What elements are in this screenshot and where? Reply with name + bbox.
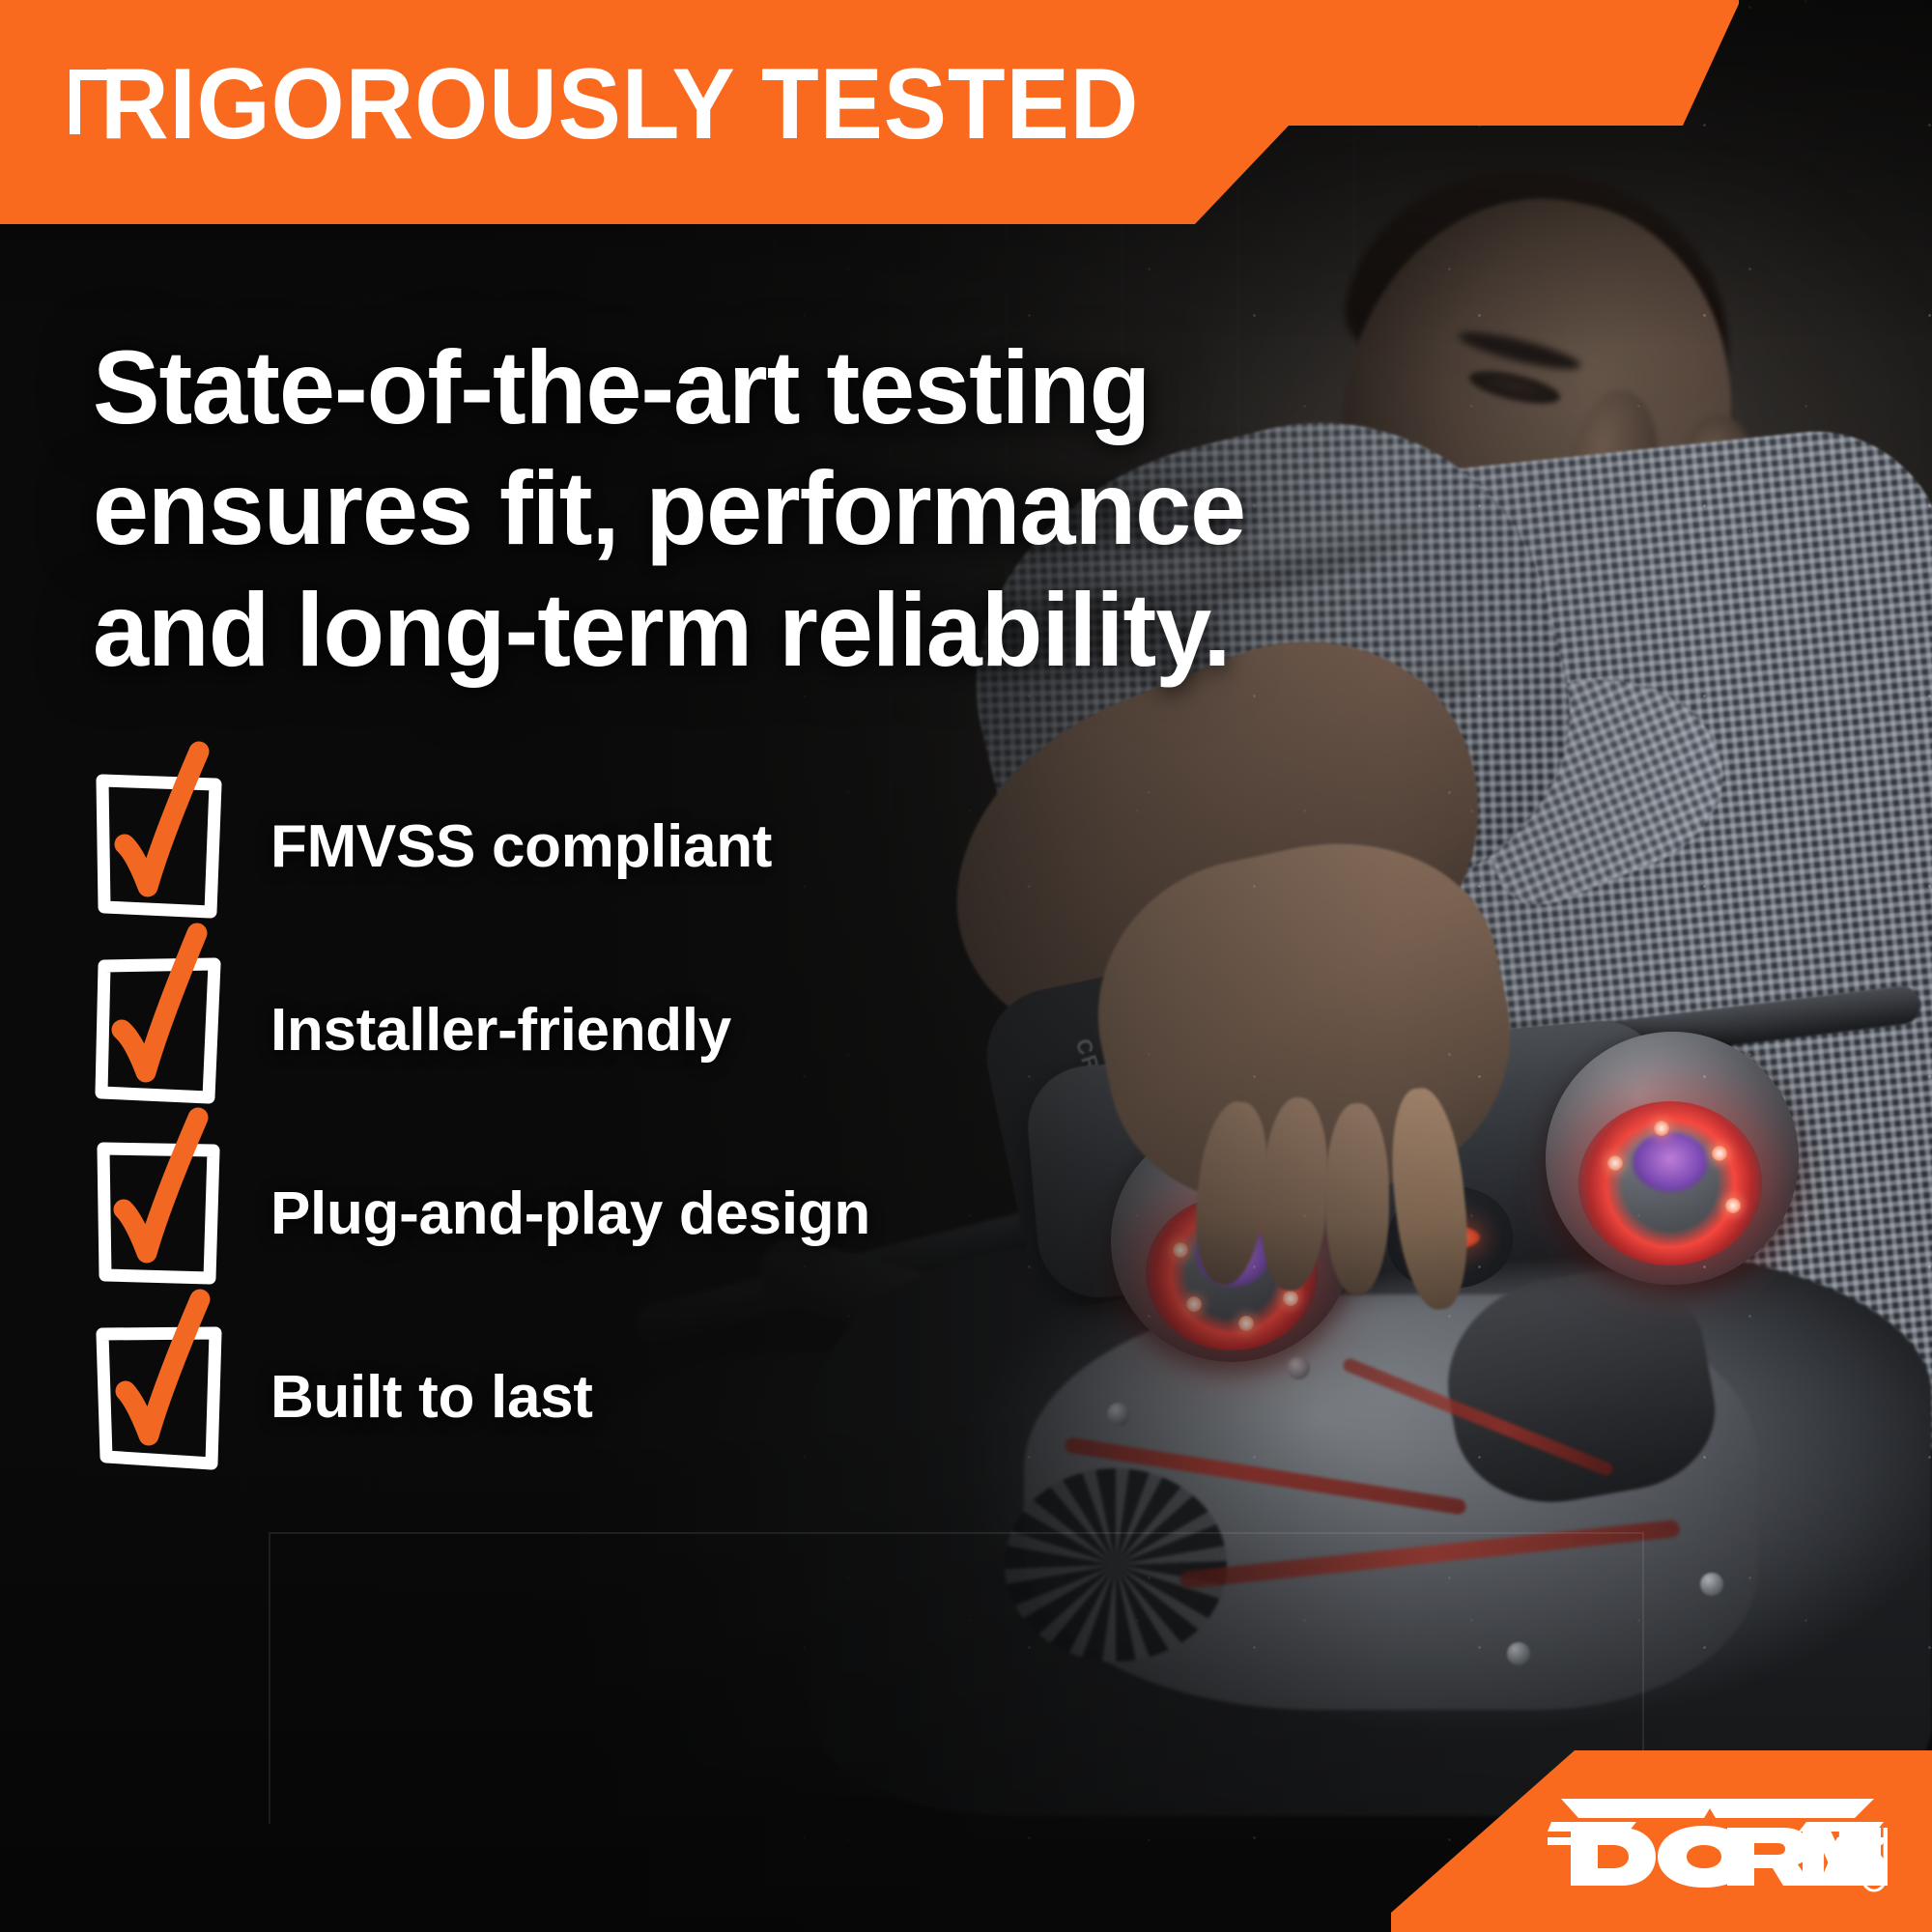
headline: State-of-the-art testing ensures fit, pe…: [93, 327, 1387, 690]
dorman-logo: R: [1548, 1793, 1888, 1897]
checkbox-checked-icon: [93, 1140, 236, 1287]
checklist-item: FMVSS compliant: [93, 773, 1155, 920]
checkbox-checked-icon: [93, 773, 236, 920]
checklist-item-label: Plug-and-play design: [270, 1179, 870, 1248]
svg-text:R: R: [1869, 1873, 1879, 1889]
checklist-item-label: Installer-friendly: [270, 996, 731, 1065]
checklist-item: Plug-and-play design: [93, 1140, 1155, 1287]
poster-canvas: CREAFORM RIGOROUSLY TESTED: [0, 0, 1932, 1932]
headline-line-3: and long-term reliability.: [93, 569, 1342, 690]
checklist-item-label: FMVSS compliant: [270, 812, 772, 881]
checkbox-checked-icon: [93, 956, 236, 1103]
banner-title: RIGOROUSLY TESTED: [100, 54, 1139, 155]
checklist-item-label: Built to last: [270, 1363, 593, 1432]
feature-checklist: FMVSS compliant Installer-friendly Plug-…: [93, 773, 1155, 1507]
checkbox-checked-icon: [93, 1323, 236, 1470]
headline-line-1: State-of-the-art testing: [93, 327, 1342, 447]
checklist-item: Built to last: [93, 1323, 1155, 1470]
headline-line-2: ensures fit, performance: [93, 447, 1342, 568]
ghost-outline-rectangle: [269, 1532, 1644, 1824]
checklist-item: Installer-friendly: [93, 956, 1155, 1103]
